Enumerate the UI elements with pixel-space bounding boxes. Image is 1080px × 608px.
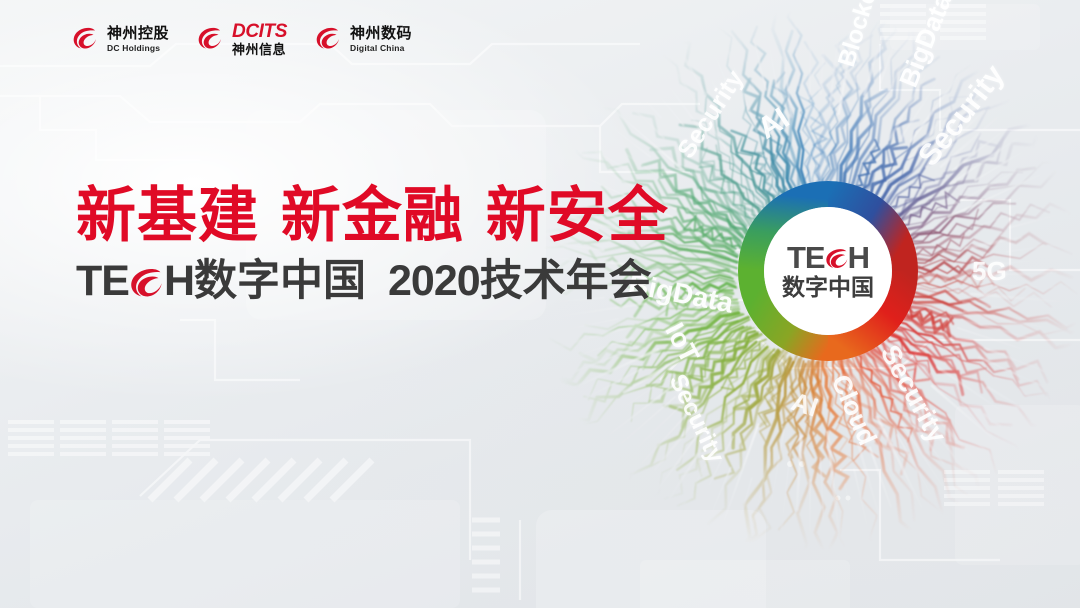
subtitle-tech-prefix: TE — [76, 260, 129, 303]
subtitle-tech-suffix: H — [164, 260, 194, 303]
swoosh-icon — [70, 24, 100, 54]
headline-block: 新基建 新金融 新安全 TE H 数字中国 2020 技术年会 — [76, 186, 669, 303]
logo-cn-name: 神州控股 — [107, 26, 169, 41]
logo-dc-holdings: 神州控股 DC Holdings — [70, 24, 169, 54]
logo-inner-disc: TE H 数字中国 — [764, 207, 892, 335]
swoosh-icon — [126, 265, 166, 299]
logo-cn-name: 神州信息 — [232, 43, 287, 56]
subtitle-year: 2020 — [388, 260, 480, 303]
logo-latin-name: DCITS — [232, 22, 287, 41]
poster-canvas: 神州控股 DC Holdings DCITS 神州信息 神州数码 Digital… — [0, 0, 1080, 608]
subtitle-cn-event: 技术年会 — [480, 260, 652, 303]
keyword-5g: 5G — [972, 256, 1007, 287]
subtitle-cn-brand: 数字中国 — [194, 260, 366, 303]
event-subtitle: TE H 数字中国 2020 技术年会 — [76, 260, 669, 303]
logo-en-name: DC Holdings — [107, 44, 169, 53]
logo-tech-wordmark: TE H — [787, 243, 869, 273]
logo-tech-suffix: H — [848, 242, 869, 273]
logo-digital-china: 神州数码 Digital China — [313, 24, 412, 54]
logo-cn-wordmark: 数字中国 — [782, 277, 874, 300]
swoosh-icon — [313, 24, 343, 54]
swoosh-icon — [195, 24, 225, 54]
logo-dcits: DCITS 神州信息 — [195, 22, 287, 56]
logo-tech-prefix: TE — [787, 242, 825, 273]
page-title: 新基建 新金融 新安全 — [76, 186, 669, 246]
partner-logo-bar: 神州控股 DC Holdings DCITS 神州信息 神州数码 Digital… — [70, 22, 412, 56]
logo-cn-name: 神州数码 — [350, 26, 412, 41]
swoosh-icon — [823, 246, 850, 270]
tech-digital-china-logo: TE H 数字中国 — [735, 178, 921, 364]
logo-en-name: Digital China — [350, 44, 412, 53]
